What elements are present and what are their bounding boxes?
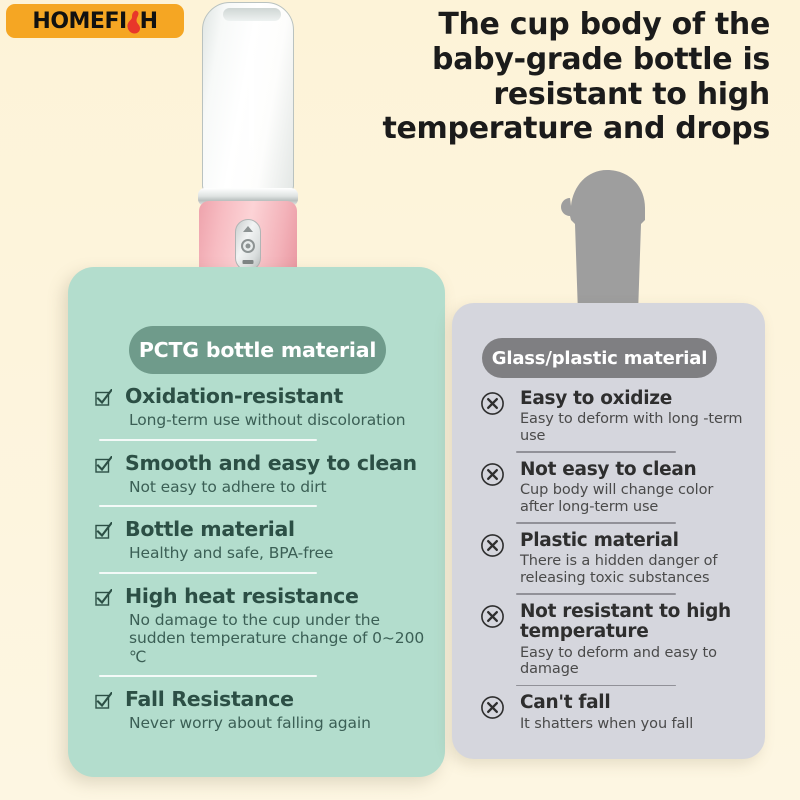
divider bbox=[516, 685, 676, 687]
list-item: Not resistant to high temperature Easy t… bbox=[480, 602, 748, 678]
blender-lid bbox=[223, 8, 281, 21]
list-item: Can't fall It shatters when you fall bbox=[480, 693, 748, 732]
divider bbox=[99, 505, 317, 507]
infographic-canvas: HOMEFI H The cup body of the baby-grade … bbox=[0, 0, 800, 800]
checkbox-check-icon bbox=[95, 522, 112, 539]
list-item-title: Smooth and easy to clean bbox=[125, 452, 425, 475]
battery-bar-icon bbox=[243, 260, 254, 264]
divider bbox=[99, 439, 317, 441]
list-item-title: Can't fall bbox=[520, 693, 748, 713]
divider bbox=[99, 572, 317, 574]
list-item-subtitle: Never worry about falling again bbox=[129, 714, 425, 733]
list-item-subtitle: No damage to the cup under the sudden te… bbox=[129, 611, 425, 667]
blender-control-panel bbox=[235, 219, 261, 271]
circle-x-icon bbox=[480, 604, 505, 629]
brand-logo: HOMEFI H bbox=[6, 4, 184, 38]
list-item-subtitle: Long-term use without discoloration bbox=[129, 411, 425, 430]
list-item-title: Oxidation-resistant bbox=[125, 385, 425, 408]
list-item-subtitle: Easy to deform with long -term use bbox=[520, 411, 748, 444]
glass-plastic-badge: Glass/plastic material bbox=[482, 338, 717, 378]
list-item: Smooth and easy to clean Not easy to adh… bbox=[95, 452, 425, 497]
brand-logo-text-part2: OMEFI bbox=[50, 9, 126, 34]
list-item: Fall Resistance Never worry about fallin… bbox=[95, 688, 425, 733]
circle-x-icon bbox=[480, 462, 505, 487]
list-item-subtitle: Healthy and safe, BPA-free bbox=[129, 544, 425, 563]
list-item-subtitle: There is a hidden danger of releasing to… bbox=[520, 553, 748, 586]
list-item-subtitle: Cup body will change color after long-te… bbox=[520, 482, 748, 515]
page-headline: The cup body of the baby-grade bottle is… bbox=[350, 8, 770, 147]
divider bbox=[516, 593, 676, 595]
list-item-title: Not easy to clean bbox=[520, 460, 748, 480]
glass-plastic-badge-label: Glass/plastic material bbox=[492, 348, 707, 369]
checkbox-check-icon bbox=[95, 456, 112, 473]
list-item-title: Bottle material bbox=[125, 518, 425, 541]
list-item-title: Not resistant to high temperature bbox=[520, 602, 748, 643]
circle-x-icon bbox=[480, 533, 505, 558]
divider bbox=[516, 522, 676, 524]
circle-x-icon bbox=[480, 695, 505, 720]
list-item: Plastic material There is a hidden dange… bbox=[480, 531, 748, 586]
glass-plastic-drawbacks-card: Glass/plastic material Easy to oxidize E… bbox=[452, 303, 765, 759]
pctg-benefits-card: PCTG bottle material Oxidation-resistant… bbox=[68, 267, 445, 777]
pctg-benefits-list: Oxidation-resistant Long-term use withou… bbox=[95, 385, 425, 733]
triangle-indicator-icon bbox=[243, 226, 253, 232]
pctg-badge-label: PCTG bottle material bbox=[139, 338, 376, 362]
divider bbox=[99, 675, 317, 677]
list-item: Oxidation-resistant Long-term use withou… bbox=[95, 385, 425, 430]
checkbox-check-icon bbox=[95, 389, 112, 406]
brand-logo-text: HOMEFI H bbox=[32, 9, 157, 34]
list-item: Easy to oxidize Easy to deform with long… bbox=[480, 389, 748, 444]
product-image-blender bbox=[190, 2, 306, 292]
checkbox-check-icon bbox=[95, 589, 112, 606]
brand-logo-text-part1: H bbox=[32, 9, 50, 34]
divider bbox=[516, 451, 676, 453]
list-item: Not easy to clean Cup body will change c… bbox=[480, 460, 748, 515]
circle-x-icon bbox=[480, 391, 505, 416]
blender-cup-highlight bbox=[249, 31, 254, 171]
list-item-title: Fall Resistance bbox=[125, 688, 425, 711]
list-item-title: Easy to oxidize bbox=[520, 389, 748, 409]
blender-cup bbox=[202, 2, 294, 192]
brand-logo-text-part3: H bbox=[140, 9, 158, 34]
pctg-badge: PCTG bottle material bbox=[129, 326, 386, 374]
list-item: Bottle material Healthy and safe, BPA-fr… bbox=[95, 518, 425, 563]
checkbox-check-icon bbox=[95, 692, 112, 709]
power-button-icon bbox=[241, 239, 255, 253]
list-item-subtitle: It shatters when you fall bbox=[520, 716, 748, 733]
list-item: High heat resistance No damage to the cu… bbox=[95, 585, 425, 667]
list-item-subtitle: Easy to deform and easy to damage bbox=[520, 645, 748, 678]
list-item-title: Plastic material bbox=[520, 531, 748, 551]
list-item-title: High heat resistance bbox=[125, 585, 425, 608]
flame-icon bbox=[126, 9, 141, 33]
list-item-subtitle: Not easy to adhere to dirt bbox=[129, 478, 425, 497]
glass-plastic-drawbacks-list: Easy to oxidize Easy to deform with long… bbox=[480, 389, 748, 732]
